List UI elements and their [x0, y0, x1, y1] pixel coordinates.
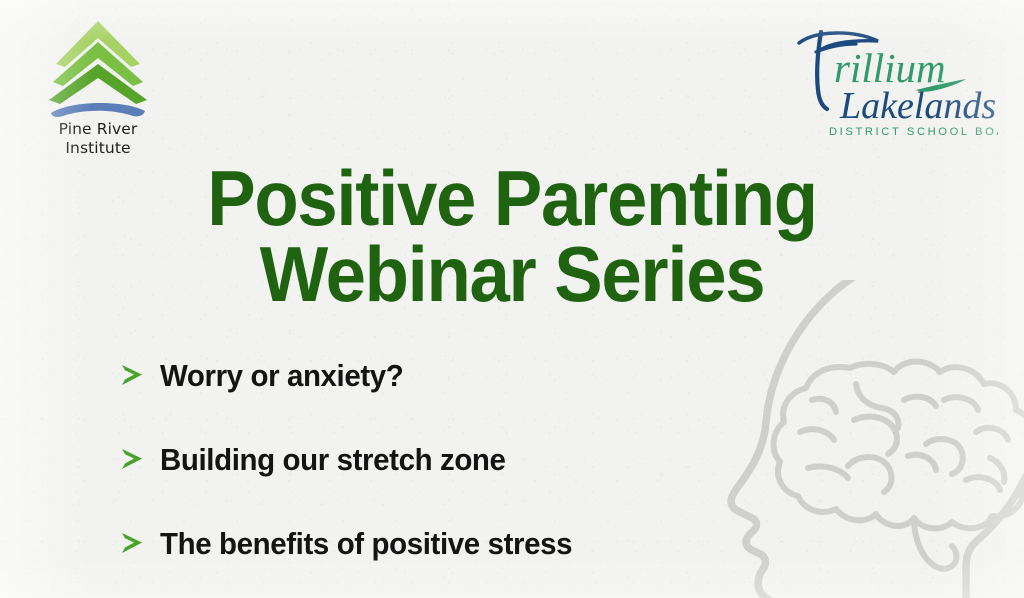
- logo-trillium-lakelands-dsb: rillium Lakelands DISTRICT SCHOOL BOARD: [780, 24, 998, 140]
- brain-outline-path: [774, 362, 1024, 529]
- list-item-label: Worry or anxiety?: [160, 360, 403, 391]
- brain-stem-path: [914, 518, 957, 569]
- pine-river-line1: Pine River: [24, 120, 172, 139]
- brain-fold-10: [976, 428, 1008, 440]
- list-item-label: Building our stretch zone: [160, 444, 506, 475]
- brain-fold-13: [908, 455, 936, 470]
- brain-fold-3: [808, 466, 848, 478]
- logo-pine-river-institute: Pine River Institute: [24, 18, 172, 158]
- brain-fold-11: [966, 477, 1000, 490]
- webinar-poster: Pine River Institute rillium Lakelands D…: [0, 0, 1024, 598]
- brain-fold-8: [926, 439, 963, 474]
- list-item-label: The benefits of positive stress: [160, 528, 572, 559]
- title-line-1: Positive Parenting: [36, 160, 988, 236]
- list-item: Worry or anxiety?: [118, 353, 758, 397]
- topic-list: Worry or anxiety? Building our stretch z…: [118, 353, 758, 598]
- list-item: The benefits of positive stress: [118, 521, 758, 565]
- chevron-right-icon: [118, 445, 146, 473]
- brain-fold-6: [848, 457, 892, 492]
- pine-tree-icon: [39, 18, 157, 118]
- brain-fold-1: [812, 399, 836, 412]
- title-line-2: Webinar Series: [36, 236, 988, 312]
- water-brushstroke: [51, 103, 145, 117]
- brain-fold-9: [944, 397, 978, 410]
- brain-fold-7: [904, 397, 936, 406]
- brain-fold-4: [856, 384, 898, 428]
- pine-river-wordmark: Pine River Institute: [24, 120, 172, 158]
- pine-river-line2: Institute: [24, 139, 172, 158]
- trillium-word-blue: Lakelands: [839, 85, 996, 127]
- brain-fold-2: [800, 429, 834, 440]
- chevron-right-icon: [118, 361, 146, 389]
- page-title: Positive Parenting Webinar Series: [0, 160, 1024, 313]
- chevron-right-icon: [118, 529, 146, 557]
- list-item: Building our stretch zone: [118, 437, 758, 481]
- trillium-tagline: DISTRICT SCHOOL BOARD: [829, 126, 998, 138]
- brain-fold-5: [854, 417, 897, 454]
- neck-right-path: [966, 476, 1024, 598]
- head-outline-path: [731, 280, 1008, 598]
- brain-fold-12: [990, 458, 1004, 482]
- trillium-t-stem: [817, 32, 827, 109]
